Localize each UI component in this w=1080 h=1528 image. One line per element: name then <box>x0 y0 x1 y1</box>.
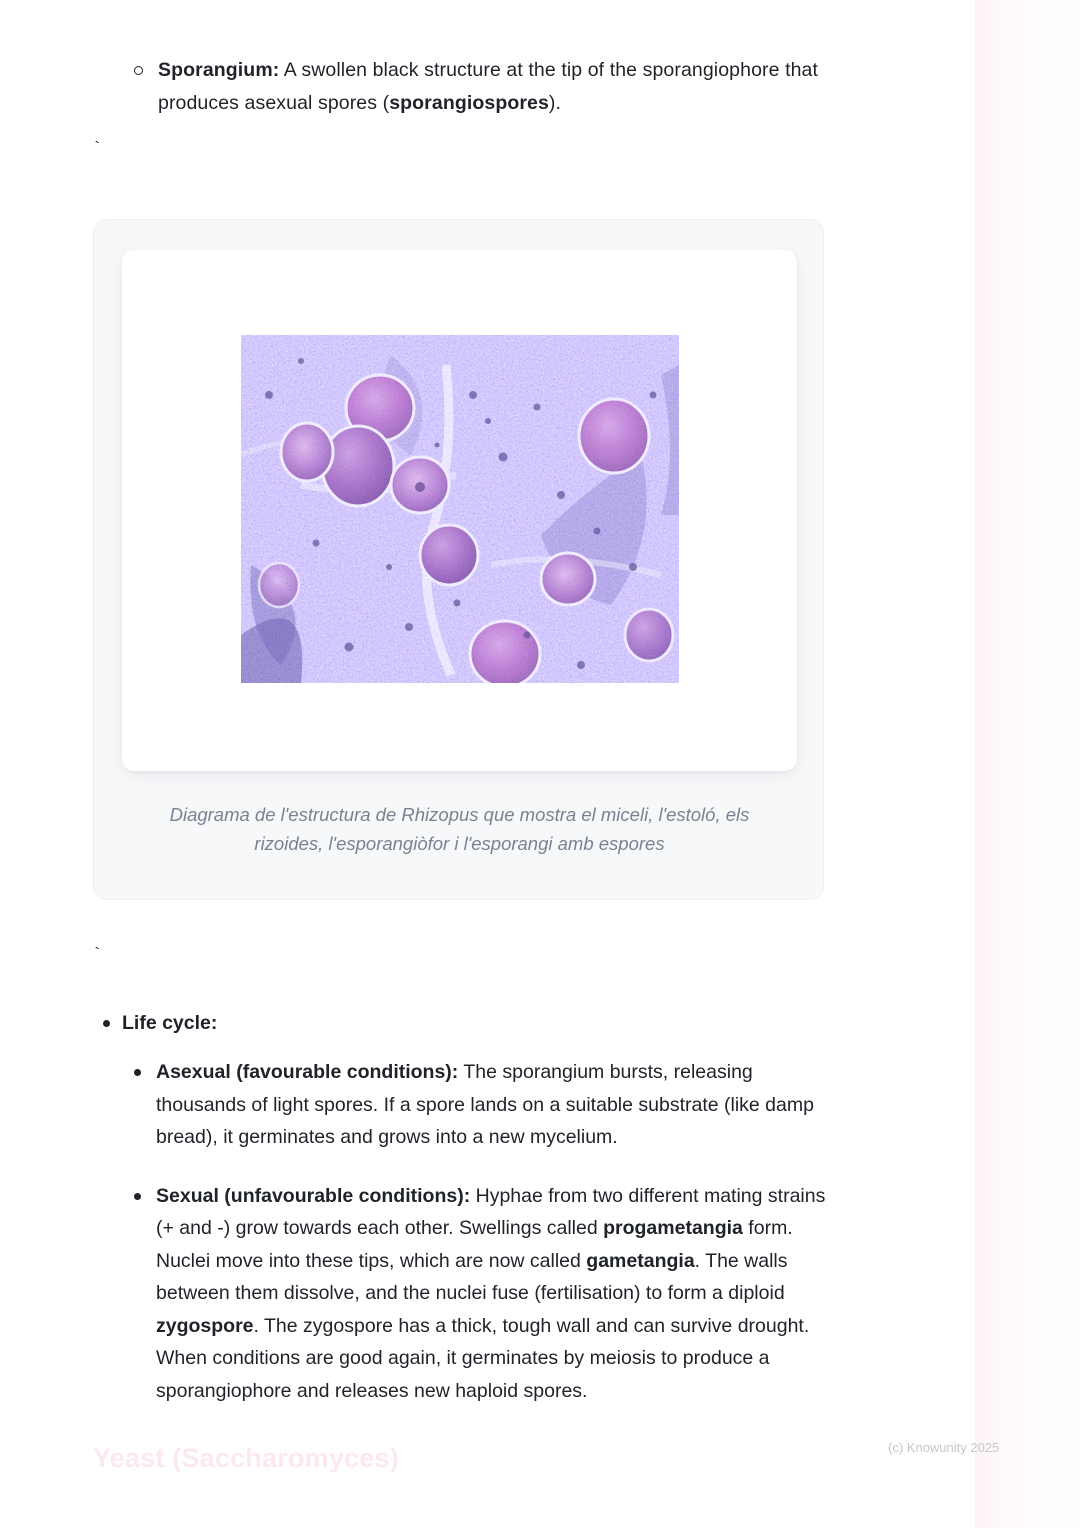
zygospore-emphasis: zygospore <box>156 1315 254 1337</box>
next-section-heading: Yeast (Saccharomyces) <box>93 1443 399 1474</box>
sporangium-term: Sporangium: <box>158 59 279 81</box>
sporangiospores-emphasis: sporangiospores <box>389 92 549 114</box>
figure-image-frame <box>122 250 797 771</box>
right-edge-pink-band <box>975 0 1080 1528</box>
life-cycle-section: Life cycle: Asexual (favourable conditio… <box>100 1008 840 1407</box>
copyright-notice: (c) Knowunity 2025 <box>888 1440 999 1455</box>
gametangia-emphasis: gametangia <box>586 1250 694 1272</box>
life-cycle-asexual-item: Asexual (favourable conditions): The spo… <box>132 1056 832 1154</box>
stray-backtick-top: ` <box>92 141 102 158</box>
life-cycle-heading: Life cycle: <box>100 1008 840 1038</box>
sexual-term: Sexual (unfavourable conditions): <box>156 1185 470 1207</box>
sexual-seg-4: . The zygospore has a thick, tough wall … <box>156 1315 809 1402</box>
sporangium-list-item: Sporangium: A swollen black structure at… <box>122 54 834 119</box>
sporangium-text-b: ). <box>549 92 561 114</box>
figure-card: Diagrama de l'estructura de Rhizopus que… <box>93 219 824 900</box>
figure-caption: Diagrama de l'estructura de Rhizopus que… <box>144 800 775 858</box>
sporangium-bullet-row: Sporangium: A swollen black structure at… <box>122 54 834 119</box>
rhizopus-micrograph-image <box>241 335 679 683</box>
asexual-term: Asexual (favourable conditions): <box>156 1061 458 1083</box>
progametangia-emphasis: progametangia <box>603 1217 743 1239</box>
stray-backtick-bottom: ` <box>92 947 102 964</box>
life-cycle-sexual-item: Sexual (unfavourable conditions): Hyphae… <box>132 1180 832 1408</box>
